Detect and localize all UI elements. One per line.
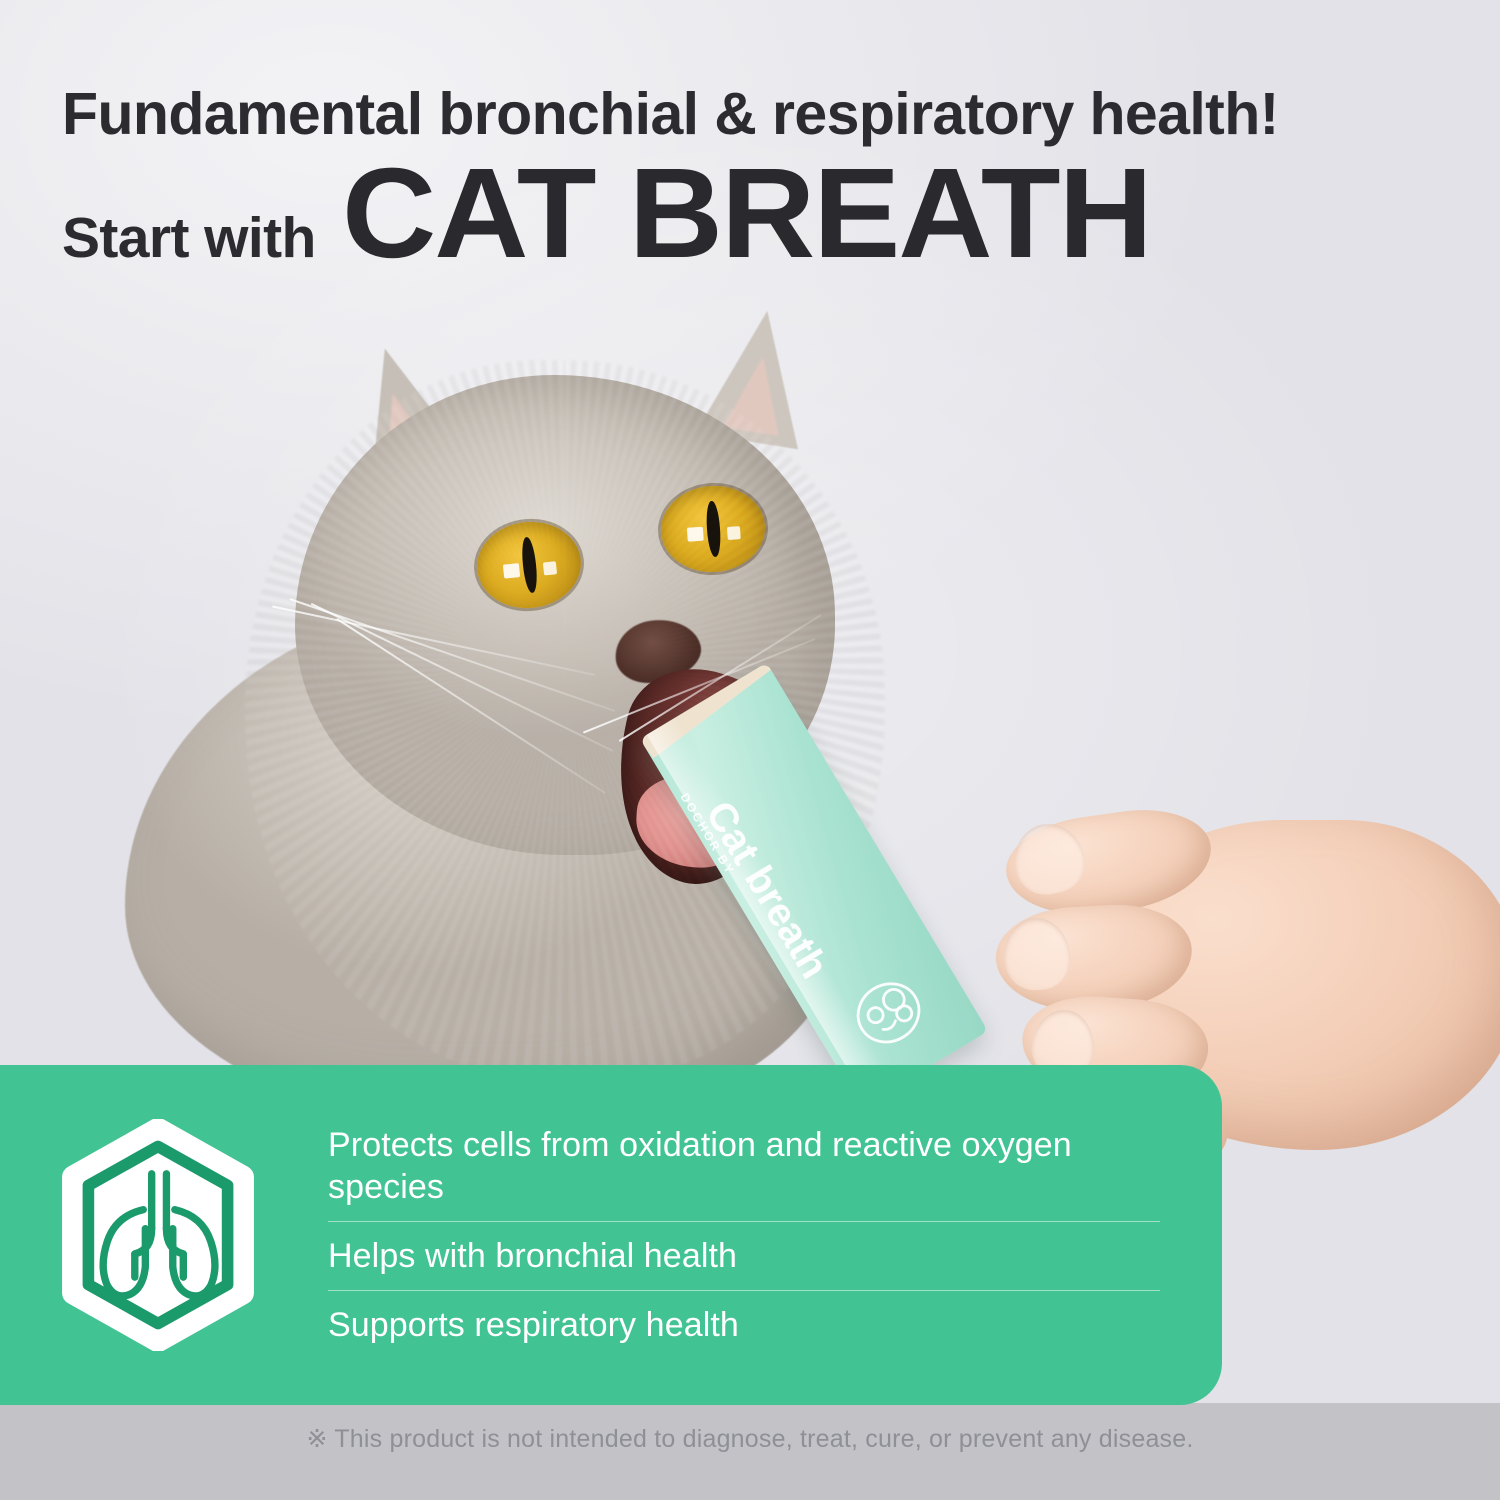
brand-name: CAT BREATH (342, 155, 1151, 273)
product-ad-banner: DOCHOR BY Cat breath Fundamental bronchi… (0, 0, 1500, 1500)
headline-tagline: Fundamental bronchial & respiratory heal… (62, 84, 1462, 145)
headline-prefix: Start with (62, 205, 316, 271)
headline-block: Fundamental bronchial & respiratory heal… (62, 84, 1462, 273)
lungs-hexagon-icon (0, 1119, 308, 1351)
headline-brand-line: Start with CAT BREATH (62, 155, 1462, 273)
benefits-panel: Protects cells from oxidation and reacti… (0, 1065, 1222, 1405)
legal-disclaimer: ※ This product is not intended to diagno… (0, 1424, 1500, 1454)
benefit-item-3: Supports respiratory health (328, 1291, 1160, 1359)
benefit-item-1: Protects cells from oxidation and reacti… (328, 1111, 1160, 1221)
benefit-item-2: Helps with bronchial health (328, 1222, 1160, 1290)
benefits-list: Protects cells from oxidation and reacti… (308, 1111, 1222, 1360)
